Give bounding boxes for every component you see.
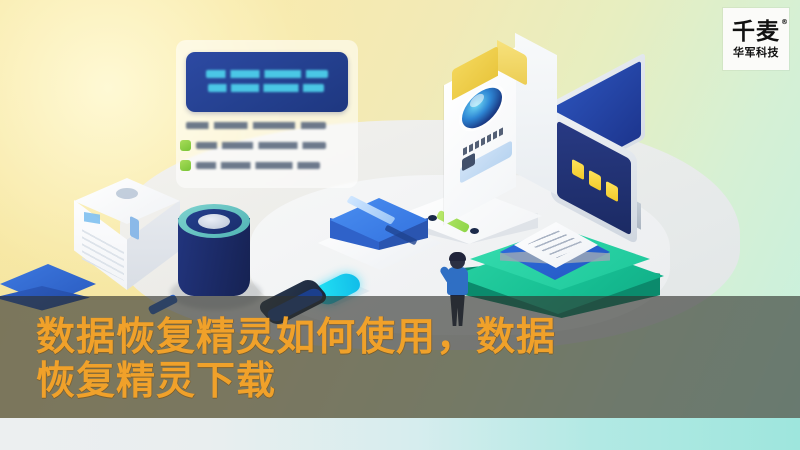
pc-tower-drive-bay	[130, 216, 139, 241]
pedestal-dot	[428, 215, 437, 221]
title-line-2: 恢复精灵下载	[36, 360, 676, 404]
hero-image-canvas: 数据恢复精灵如何使用，数据 恢复精灵下载 千麦 ® 华军科技	[0, 0, 800, 450]
bottom-strip	[0, 418, 800, 450]
brand-logo[interactable]: 千麦 ® 华军科技	[723, 8, 789, 70]
logo-main-text: 千麦 ®	[732, 20, 780, 44]
pedestal-dot	[470, 228, 479, 234]
bullet-icon	[180, 140, 191, 151]
dialog-headline-line-2	[208, 84, 324, 92]
registered-mark-icon: ®	[781, 19, 789, 26]
dialog-bullet-line-1	[196, 142, 326, 149]
title-line-1: 数据恢复精灵如何使用，数据	[36, 316, 676, 360]
bullet-icon	[180, 160, 191, 171]
dialog-headline-line-1	[206, 70, 328, 78]
person-hair	[449, 252, 466, 261]
dialog-bullet-line-2	[196, 162, 320, 169]
power-button-icon	[116, 188, 138, 199]
logo-main-label: 千麦	[732, 19, 780, 45]
cylinder-dial-icon	[198, 214, 230, 229]
page-title: 数据恢复精灵如何使用，数据 恢复精灵下载	[36, 316, 676, 404]
logo-sub-label: 华军科技	[733, 46, 779, 59]
dialog-banner	[186, 52, 348, 112]
dialog-body-line-1	[186, 122, 326, 129]
